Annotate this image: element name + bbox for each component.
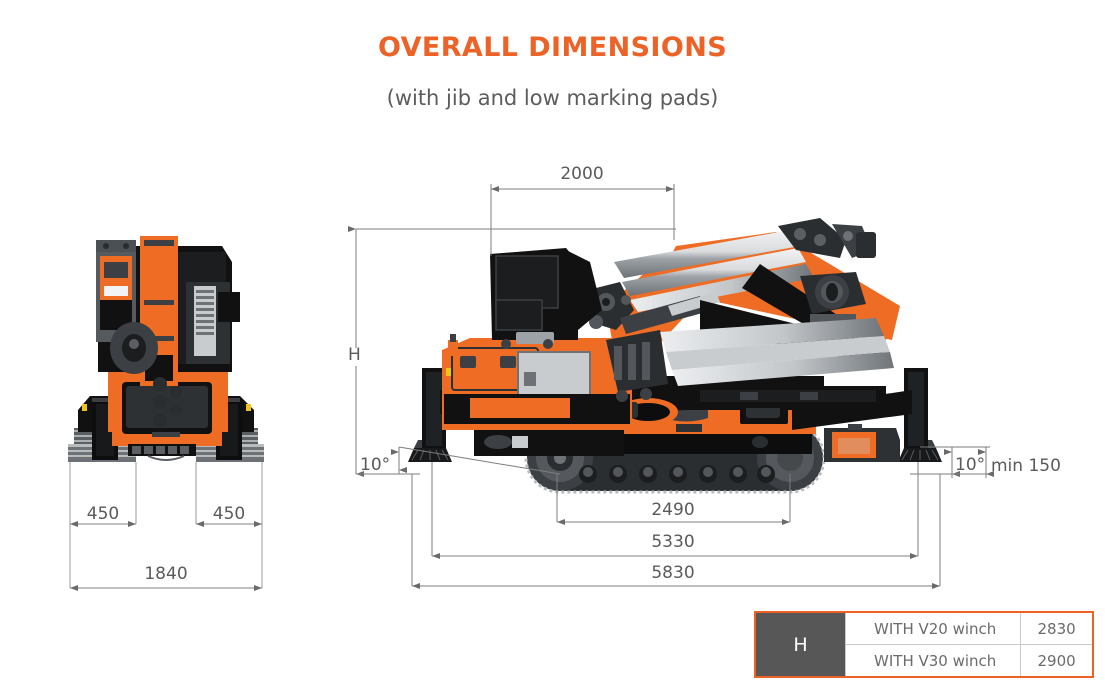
- dim-front-pad-right: 450: [213, 504, 245, 524]
- dim-outrigger-span-outer: 5830: [651, 563, 694, 583]
- table-cell-label: WITH V30 winch: [846, 645, 1021, 678]
- table-row: H WITH V20 winch 2830: [755, 612, 1093, 645]
- dim-angle-left: 10°: [360, 455, 390, 475]
- dim-angle-right: 10°: [955, 455, 985, 475]
- table-row-header: H: [755, 612, 846, 677]
- dim-front-pad-left: 450: [87, 504, 119, 524]
- table-cell-value: 2900: [1021, 645, 1093, 678]
- dim-front-overall-width: 1840: [144, 564, 187, 584]
- table-cell-label: WITH V20 winch: [846, 612, 1021, 645]
- dim-outrigger-span-inner: 5330: [651, 532, 694, 552]
- spec-table: H WITH V20 winch 2830 WITH V30 winch 290…: [754, 611, 1094, 678]
- side-view-machine: [408, 218, 942, 492]
- note-min-clearance: min 150: [991, 456, 1061, 476]
- front-view-machine: [68, 236, 264, 588]
- dim-track-length: 2490: [651, 500, 694, 520]
- jib-assembly: [490, 248, 602, 349]
- dim-jib-overhang: 2000: [560, 164, 603, 184]
- dim-height-label: H: [348, 345, 361, 365]
- table-cell-value: 2830: [1021, 612, 1093, 645]
